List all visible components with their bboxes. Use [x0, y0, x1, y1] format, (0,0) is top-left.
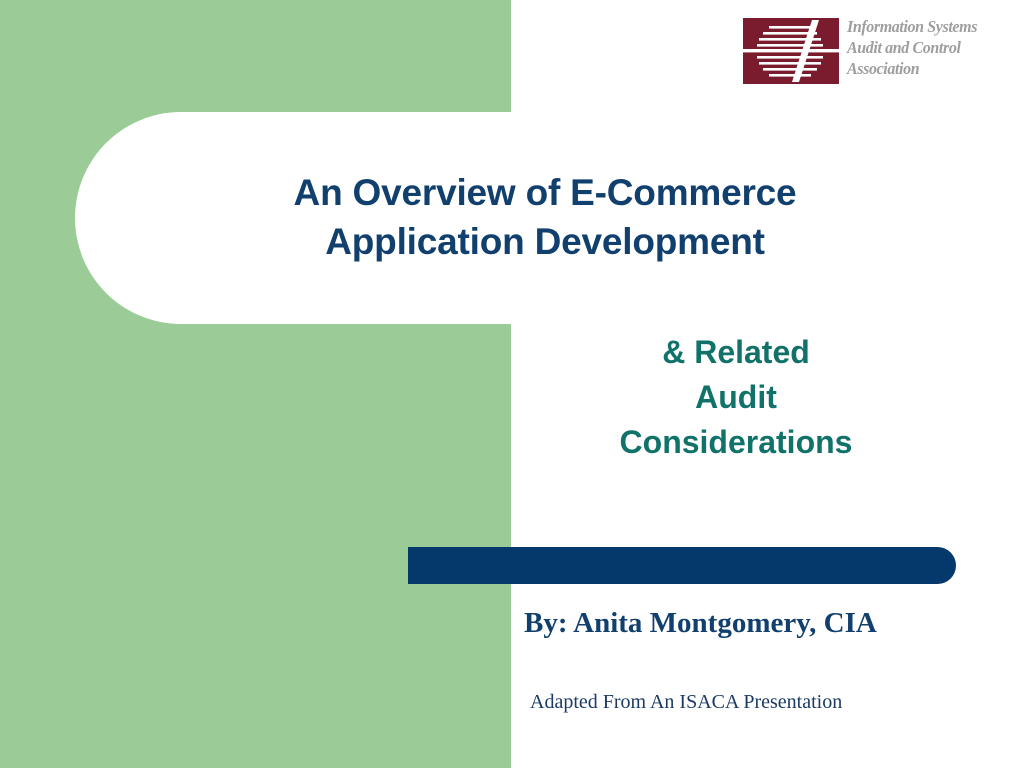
source-credit: Adapted From An ISACA Presentation: [530, 689, 1000, 715]
page-title-line-1: An Overview of E-Commerce: [150, 168, 940, 217]
page-title-line-2: Application Development: [150, 217, 940, 266]
page-subtitle-line-1: & Related: [512, 330, 960, 375]
isaca-logo-text-line-3: Association: [847, 58, 994, 79]
isaca-logo-text-line-1: Information Systems: [847, 16, 994, 37]
page-subtitle: & Related Audit Considerations: [512, 330, 960, 465]
page-subtitle-line-2: Audit: [512, 375, 960, 420]
isaca-logo: Information Systems Audit and Control As…: [743, 16, 1003, 92]
page-title: An Overview of E-Commerce Application De…: [150, 168, 940, 266]
isaca-logo-text-line-2: Audit and Control: [847, 37, 994, 58]
navy-accent-bar: [408, 547, 956, 584]
presentation-slide: An Overview of E-Commerce Application De…: [0, 0, 1024, 768]
isaca-logo-text: Information Systems Audit and Control As…: [847, 16, 994, 79]
author-byline: By: Anita Montgomery, CIA: [524, 605, 994, 641]
isaca-logo-mark-icon: [743, 18, 839, 84]
page-subtitle-line-3: Considerations: [512, 420, 960, 465]
